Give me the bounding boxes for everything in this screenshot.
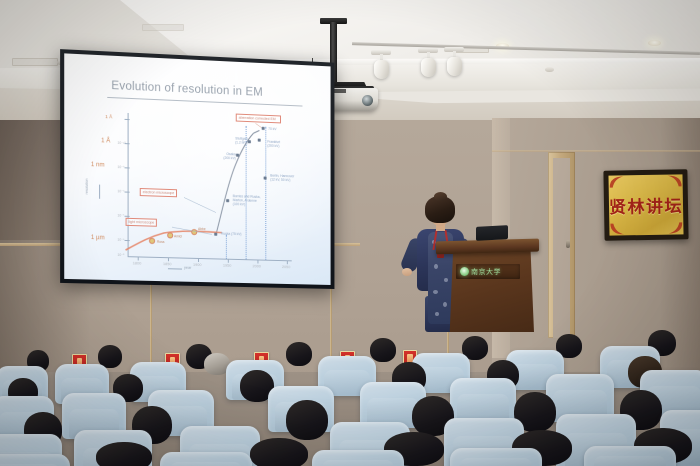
plaque-corner-tl — [609, 176, 624, 188]
university-emblem-icon — [460, 267, 469, 276]
lecture-hall-photo: 贤林讲坛 Evolution of resolution in EM 1 Å 1… — [0, 0, 700, 466]
audience-head — [286, 342, 312, 366]
podium-laptop — [476, 225, 508, 241]
audience-head — [370, 338, 396, 362]
seat[interactable] — [450, 448, 542, 466]
plaque-gold-face: 贤林讲坛 — [608, 174, 683, 235]
audience-head — [96, 442, 152, 466]
ceiling-vent-3 — [142, 24, 184, 31]
door[interactable] — [553, 158, 570, 338]
track-light-1 — [421, 58, 436, 77]
projection-screen[interactable]: Evolution of resolution in EM 1 Å 1 Å 1 … — [64, 53, 330, 285]
podium — [448, 248, 534, 332]
plaque-text: 贤林讲坛 — [609, 192, 683, 218]
wall-trim-horizontal-right — [492, 150, 700, 152]
plaque-corner-tr — [666, 175, 681, 187]
seat[interactable] — [312, 450, 404, 466]
seat[interactable] — [0, 454, 70, 466]
smoke-detector-2 — [545, 67, 554, 72]
track-light-3 — [374, 60, 389, 79]
podium-text: 南京大学 — [471, 267, 517, 277]
chart-leader-lines — [87, 107, 303, 279]
projection-screen-frame: Evolution of resolution in EM 1 Å 1 Å 1 … — [60, 49, 334, 289]
projector-lens — [362, 95, 373, 106]
plaque-corner-bl — [610, 222, 625, 234]
seat[interactable] — [584, 446, 676, 466]
wall-plaque: 贤林讲坛 — [603, 169, 688, 240]
audience-head — [250, 438, 308, 466]
plaque-corner-br — [667, 221, 682, 233]
ceiling-vent-1 — [12, 58, 58, 66]
track-light-2 — [447, 57, 462, 76]
slide-chart: 1 Å 1 Å 1 nm 1 µm 10⁻¹⁰ 10⁻⁹ 10⁻⁸ 10⁻⁷ 1… — [87, 107, 303, 279]
audience-head — [286, 400, 328, 440]
speaker-hair-bun — [434, 192, 447, 201]
door-knob[interactable] — [566, 240, 570, 248]
speaker-left-hand — [402, 268, 412, 276]
downlight-3 — [648, 40, 661, 46]
seat[interactable] — [160, 452, 252, 466]
